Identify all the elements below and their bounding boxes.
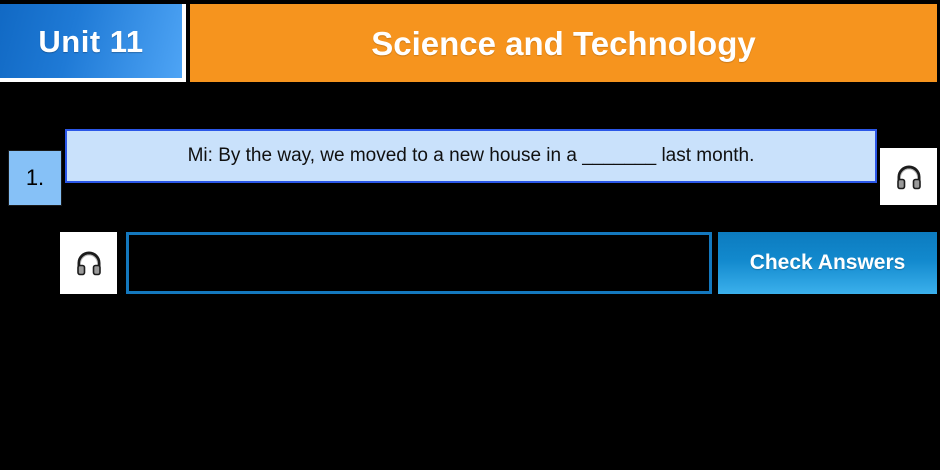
- question-number-label: 1.: [26, 165, 44, 191]
- title-banner: Science and Technology: [190, 4, 937, 82]
- page-title: Science and Technology: [371, 27, 755, 60]
- check-answers-button[interactable]: Check Answers: [718, 232, 937, 294]
- question-number-badge: 1.: [8, 150, 62, 206]
- play-answer-audio-button[interactable]: [60, 232, 117, 294]
- question-text: Mi: By the way, we moved to a new house …: [188, 145, 755, 168]
- unit-badge-label: Unit 11: [38, 26, 143, 57]
- question-text-box: Mi: By the way, we moved to a new house …: [65, 129, 877, 183]
- headphones-icon: [74, 248, 104, 278]
- play-question-audio-button[interactable]: [880, 148, 937, 205]
- page-header: Unit 11 Science and Technology: [0, 0, 940, 86]
- headphones-icon: [894, 162, 924, 192]
- answer-input[interactable]: [126, 232, 712, 294]
- question-row: 1. Mi: By the way, we moved to a new hou…: [0, 126, 940, 212]
- answer-row: Check Answers: [0, 230, 940, 300]
- unit-badge: Unit 11: [0, 4, 186, 82]
